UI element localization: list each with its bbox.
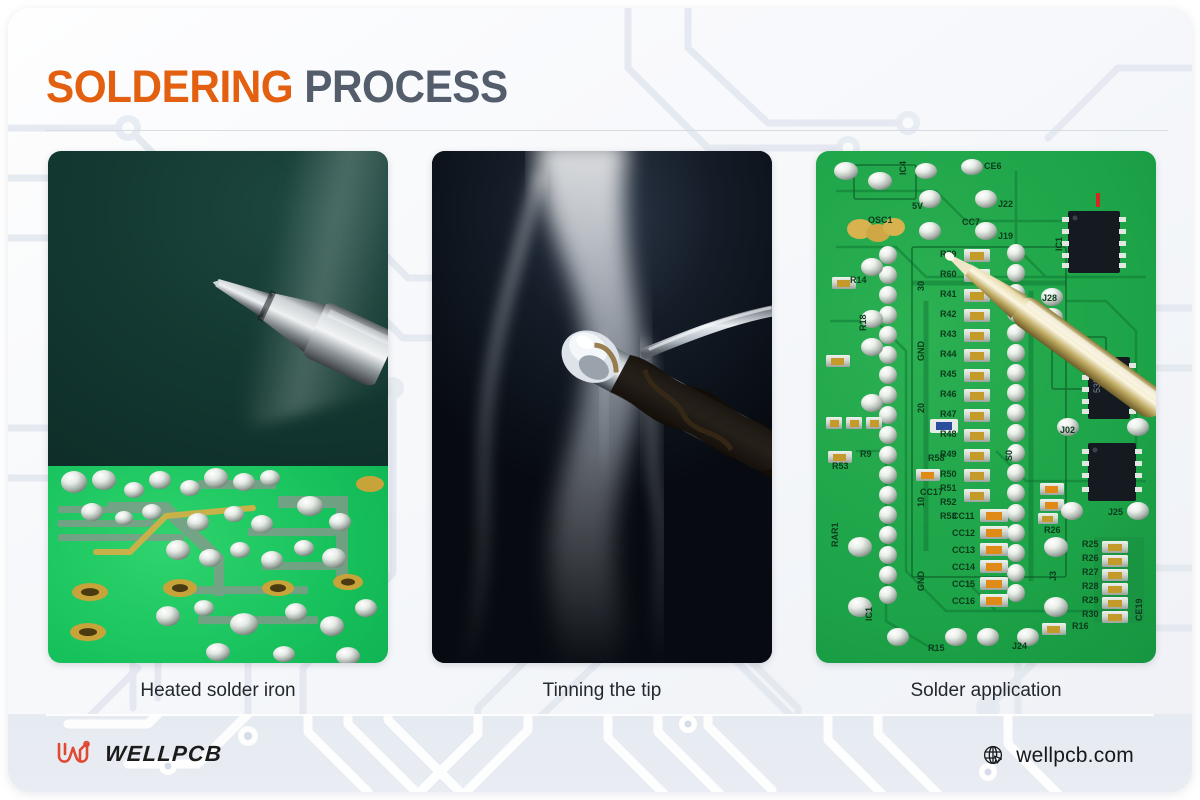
svg-text:R27: R27 xyxy=(1082,567,1099,577)
pcb-detail-illustration: 53FP xyxy=(816,151,1156,663)
svg-text:CC16: CC16 xyxy=(952,596,975,606)
svg-text:R30: R30 xyxy=(1082,609,1099,619)
svg-text:30: 30 xyxy=(916,281,926,291)
svg-text:R18: R18 xyxy=(858,314,868,331)
smoke-plume-main xyxy=(536,151,642,663)
svg-text:CC7: CC7 xyxy=(962,217,980,227)
svg-text:R9: R9 xyxy=(860,449,872,459)
svg-text:CC17: CC17 xyxy=(920,487,943,497)
svg-text:IC1: IC1 xyxy=(864,607,874,621)
brand-lockup[interactable]: WELLPCB xyxy=(56,740,222,768)
website-url: wellpcb.com xyxy=(1016,744,1134,768)
svg-text:R26: R26 xyxy=(1044,525,1061,535)
svg-text:S0: S0 xyxy=(1004,450,1014,461)
svg-text:J25: J25 xyxy=(1108,507,1123,517)
svg-text:IC4: IC4 xyxy=(898,161,908,175)
svg-text:J22: J22 xyxy=(998,199,1013,209)
svg-text:R46: R46 xyxy=(940,389,957,399)
svg-text:GND: GND xyxy=(916,571,926,592)
svg-text:J24: J24 xyxy=(1012,641,1027,651)
svg-text:R14: R14 xyxy=(850,275,867,285)
footer-divider xyxy=(46,714,1154,716)
svg-text:20: 20 xyxy=(916,403,926,413)
caption-solder-application: Solder application xyxy=(816,673,1156,709)
svg-text:R60: R60 xyxy=(940,269,957,279)
svg-text:R50: R50 xyxy=(940,469,957,479)
svg-text:CE6: CE6 xyxy=(984,161,1002,171)
process-image-heated-solder-iron[interactable] xyxy=(48,151,388,663)
svg-text:R26: R26 xyxy=(1082,553,1099,563)
footer: WELLPCB wellpcb.com xyxy=(8,714,1192,792)
svg-text:J28: J28 xyxy=(1042,293,1057,303)
solder-wire xyxy=(646,311,772,353)
svg-text:OSC1: OSC1 xyxy=(868,215,893,225)
svg-text:R29: R29 xyxy=(1082,595,1099,605)
page-title: SOLDERINGPROCESS xyxy=(46,56,1089,118)
svg-text:CE19: CE19 xyxy=(1134,598,1144,621)
svg-text:R25: R25 xyxy=(1082,539,1099,549)
svg-text:R45: R45 xyxy=(940,369,957,379)
svg-text:R48: R48 xyxy=(940,429,957,439)
svg-text:R53: R53 xyxy=(832,461,849,471)
globe-cursor-icon xyxy=(982,744,1006,768)
pcb-board-surface xyxy=(48,466,388,663)
caption-row: Heated solder iron Tinning the tip Solde… xyxy=(48,673,1156,709)
smoke-and-tip-illustration xyxy=(432,151,772,663)
process-image-solder-application[interactable]: 53FP xyxy=(816,151,1156,663)
svg-text:CC14: CC14 xyxy=(952,562,975,572)
svg-text:R42: R42 xyxy=(940,309,957,319)
svg-text:5V: 5V xyxy=(912,201,923,211)
svg-text:GND: GND xyxy=(916,341,926,362)
header: SOLDERINGPROCESS xyxy=(46,56,1156,118)
caption-heated-solder-iron: Heated solder iron xyxy=(48,673,388,709)
svg-text:R28: R28 xyxy=(1082,581,1099,591)
svg-text:R44: R44 xyxy=(940,349,957,359)
svg-text:J02: J02 xyxy=(1060,425,1075,435)
svg-text:R15: R15 xyxy=(928,643,945,653)
svg-text:J3: J3 xyxy=(1048,571,1058,581)
smoke-wisp-left xyxy=(464,171,540,663)
wellpcb-logo-icon xyxy=(56,740,94,768)
svg-text:R43: R43 xyxy=(940,329,957,339)
header-divider xyxy=(46,130,1168,131)
infographic-card: SOLDERINGPROCESS xyxy=(8,8,1192,792)
svg-text:R58: R58 xyxy=(928,453,945,463)
svg-text:R47: R47 xyxy=(940,409,957,419)
process-step-gallery: 53FP xyxy=(48,151,1156,663)
svg-text:CC12: CC12 xyxy=(952,528,975,538)
svg-text:RAR1: RAR1 xyxy=(830,522,840,547)
caption-tinning-the-tip: Tinning the tip xyxy=(432,673,772,709)
svg-text:CC11: CC11 xyxy=(952,511,975,521)
svg-text:R52: R52 xyxy=(940,497,957,507)
process-image-tinning-the-tip[interactable] xyxy=(432,151,772,663)
smd-capacitor-group xyxy=(980,509,1008,607)
title-accent-word: SOLDERING xyxy=(46,61,293,112)
svg-text:CC13: CC13 xyxy=(952,545,975,555)
brand-name: WELLPCB xyxy=(104,741,223,767)
title-secondary-word: PROCESS xyxy=(304,61,508,112)
svg-text:IC1: IC1 xyxy=(1054,237,1064,251)
svg-text:10: 10 xyxy=(916,497,926,507)
svg-text:CC15: CC15 xyxy=(952,579,975,589)
svg-text:R41: R41 xyxy=(940,289,957,299)
svg-text:R16: R16 xyxy=(1072,621,1089,631)
website-lockup[interactable]: wellpcb.com xyxy=(982,744,1134,768)
svg-text:J19: J19 xyxy=(998,231,1013,241)
